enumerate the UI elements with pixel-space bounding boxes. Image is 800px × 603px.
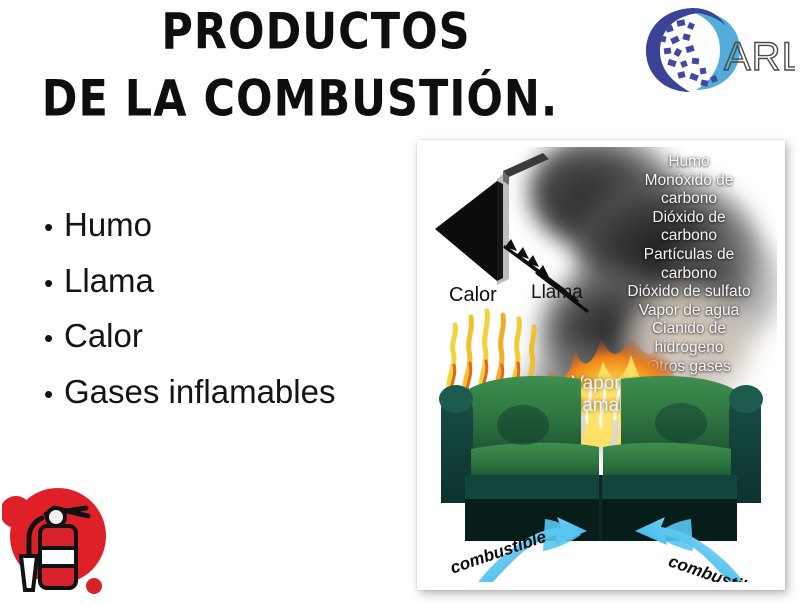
fuel-arrow-left: combustible	[449, 515, 589, 582]
title-line-1: PRODUCTOS	[32, 8, 600, 58]
bullet-point-icon: •	[44, 381, 64, 407]
gas-item: carbono	[603, 190, 775, 209]
bullet-list: • Humo • Llama • Calor • Gases inflamabl…	[44, 208, 424, 431]
list-item-label: Llama	[64, 264, 154, 299]
burning-couch-diagram: Humo Monóxido de carbono Dióxido de carb…	[425, 147, 777, 582]
slide-canvas: PRODUCTOS DE LA COMBUSTIÓN.	[0, 0, 800, 600]
list-item: • Gases inflamables	[44, 375, 424, 410]
burning-couch-photo-frame: Humo Monóxido de carbono Dióxido de carb…	[417, 140, 785, 590]
list-item-label: Calor	[64, 319, 143, 354]
list-item-label: Humo	[64, 208, 152, 243]
list-item-label: Gases inflamables	[64, 375, 335, 410]
fire-extinguisher-icon	[2, 478, 124, 598]
gas-item: Humo	[603, 153, 775, 172]
list-item: • Humo	[44, 208, 424, 243]
gas-item: Partículas de	[603, 246, 775, 265]
gas-item: Monóxido de	[603, 172, 775, 191]
list-item: • Llama	[44, 264, 424, 299]
page-title: PRODUCTOS DE LA COMBUSTIÓN.	[0, 8, 600, 118]
list-item: • Calor	[44, 319, 424, 354]
bullet-point-icon: •	[44, 214, 64, 240]
fuel-arrow-right: combustible	[625, 515, 775, 582]
title-line-2: DE LA COMBUSTIÓN.	[0, 75, 600, 125]
gas-item: carbono	[603, 227, 775, 246]
bullet-point-icon: •	[44, 270, 64, 296]
gas-item: Dióxido de	[603, 209, 775, 228]
gas-item: carbono	[603, 265, 775, 284]
arl-wordmark: ARL	[724, 35, 795, 79]
bullet-point-icon: •	[44, 325, 64, 351]
arl-logo: ARL	[640, 4, 795, 96]
